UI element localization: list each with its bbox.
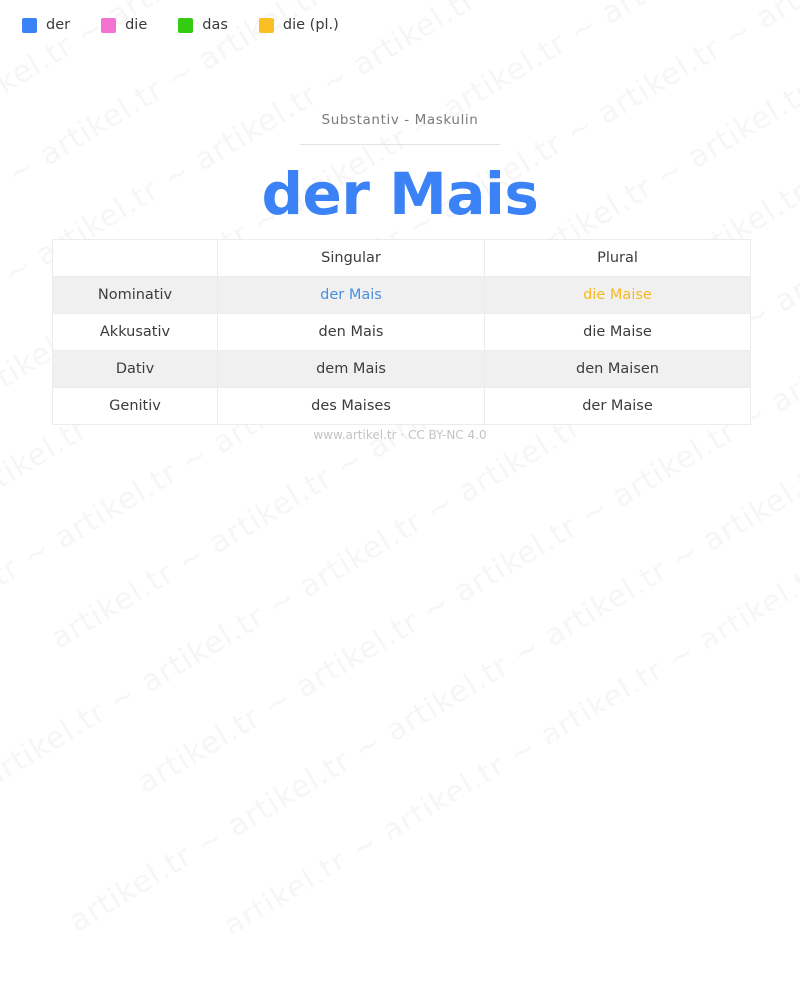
table-row: Nominativ der Mais die Maise — [53, 277, 751, 314]
legend-item-die-plural: die (pl.) — [259, 17, 339, 33]
legend-label-das: das — [202, 17, 228, 33]
case-label-akkusativ: Akkusativ — [53, 314, 218, 351]
column-header-plural: Plural — [485, 240, 751, 277]
legend-label-der: der — [46, 17, 70, 33]
color-swatch-blue-icon — [22, 18, 37, 33]
word-category-subtitle: Substantiv - Maskulin — [0, 112, 800, 128]
value-nominativ-plural: die Maise — [485, 277, 751, 314]
value-akkusativ-singular: den Mais — [218, 314, 485, 351]
value-genitiv-singular: des Maises — [218, 388, 485, 425]
word-header: Substantiv - Maskulin der Mais — [0, 112, 800, 226]
declension-card: der die das die (pl.) Substantiv - Masku… — [0, 0, 800, 533]
value-genitiv-plural: der Maise — [485, 388, 751, 425]
watermark-row: artikel.tr ~ artikel.tr ~ artikel.tr ~ a… — [224, 538, 800, 1003]
legend-label-die: die — [125, 17, 147, 33]
footer-attribution: www.artikel.tr · CC BY-NC 4.0 — [0, 428, 800, 442]
value-dativ-plural: den Maisen — [485, 351, 751, 388]
page-title: der Mais — [0, 163, 800, 226]
table-row: Akkusativ den Mais die Maise — [53, 314, 751, 351]
column-header-case — [53, 240, 218, 277]
legend-item-das: das — [178, 17, 228, 33]
value-nominativ-singular: der Mais — [218, 277, 485, 314]
case-label-dativ: Dativ — [53, 351, 218, 388]
value-dativ-singular: dem Mais — [218, 351, 485, 388]
table-row: Dativ dem Mais den Maisen — [53, 351, 751, 388]
case-label-genitiv: Genitiv — [53, 388, 218, 425]
declension-table: Singular Plural Nominativ der Mais die M… — [52, 239, 751, 425]
value-akkusativ-plural: die Maise — [485, 314, 751, 351]
table-row: Genitiv des Maises der Maise — [53, 388, 751, 425]
color-swatch-green-icon — [178, 18, 193, 33]
table-header-row: Singular Plural — [53, 240, 751, 277]
watermark-row: artikel.tr ~ artikel.tr ~ artikel.tr ~ a… — [180, 466, 800, 1003]
article-color-legend: der die das die (pl.) — [22, 17, 370, 33]
watermark-row: artikel.tr ~ artikel.tr ~ artikel.tr ~ a… — [267, 610, 800, 1003]
header-divider — [300, 144, 500, 145]
color-swatch-yellow-icon — [259, 18, 274, 33]
legend-item-die: die — [101, 17, 147, 33]
color-swatch-pink-icon — [101, 18, 116, 33]
legend-item-der: der — [22, 17, 70, 33]
case-label-nominativ: Nominativ — [53, 277, 218, 314]
column-header-singular: Singular — [218, 240, 485, 277]
legend-label-die-plural: die (pl.) — [283, 17, 339, 33]
